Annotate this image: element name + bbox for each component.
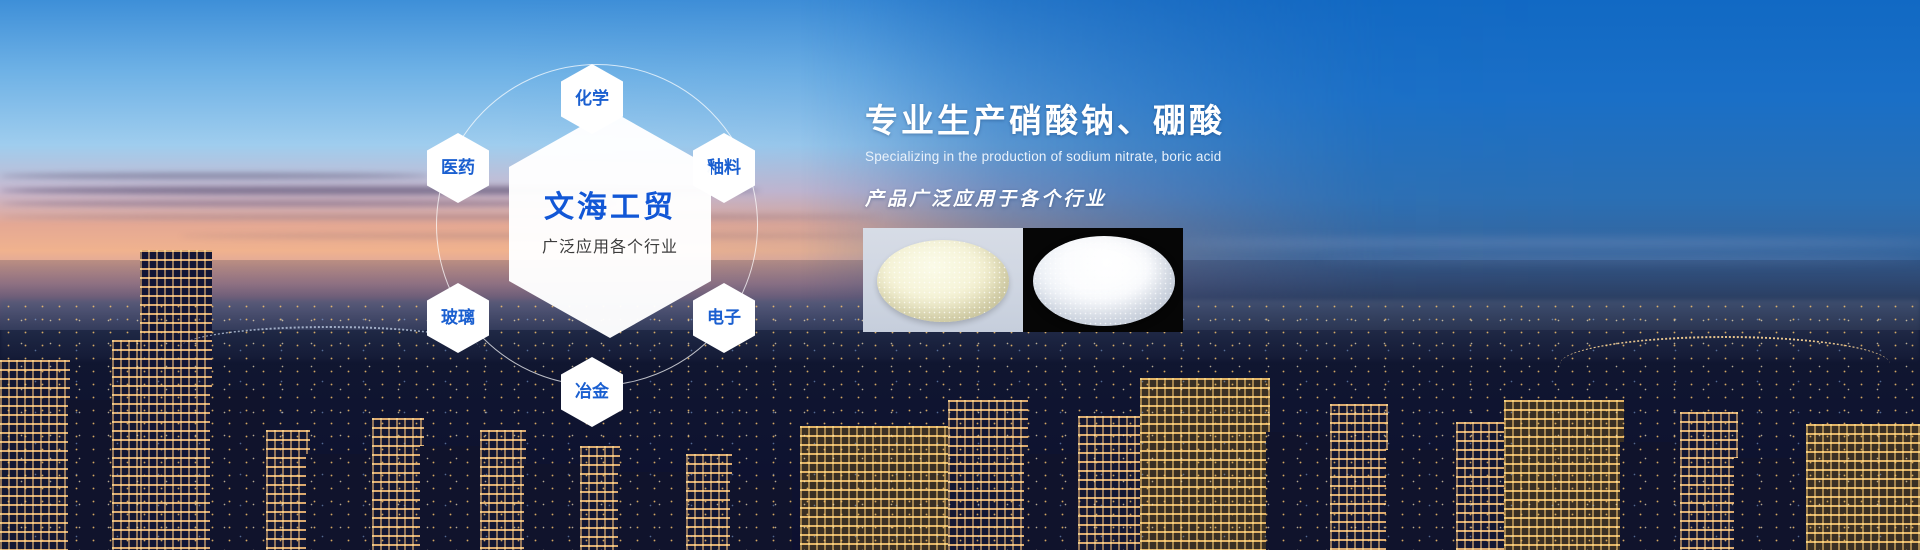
product-photo-boric-acid — [1023, 228, 1183, 332]
product-photo-sodium-nitrate — [863, 228, 1023, 332]
headline: 专业生产硝酸钠、硼酸 — [865, 100, 1505, 141]
industry-hex-diagram: 化学 釉料 电子 冶金 玻璃 医药 文海工贸 广泛应用各个行业 — [400, 20, 820, 480]
powder-pile — [1033, 236, 1175, 326]
copy-block: 专业生产硝酸钠、硼酸 Specializing in the productio… — [865, 100, 1505, 211]
powder-texture — [1033, 236, 1175, 326]
product-photos — [863, 228, 1223, 336]
english-subtitle: Specializing in the production of sodium… — [865, 149, 1505, 164]
hex-node-label: 医药 — [441, 159, 475, 177]
hex-node-label: 化学 — [575, 90, 609, 108]
powder-texture — [877, 240, 1009, 322]
banner-root: 化学 釉料 电子 冶金 玻璃 医药 文海工贸 广泛应用各个行业 专业生产硝酸钠、… — [0, 0, 1920, 550]
hex-node-label: 玻璃 — [441, 309, 475, 327]
powder-pile — [877, 240, 1009, 322]
tagline: 产品广泛应用于各个行业 — [865, 184, 1505, 211]
cloud-band — [0, 173, 430, 179]
brand-name: 文海工贸 — [544, 191, 676, 224]
cloud-band — [1180, 238, 1920, 248]
hex-node-label: 冶金 — [575, 383, 609, 401]
hex-node-label: 电子 — [707, 309, 741, 327]
brand-tagline: 广泛应用各个行业 — [542, 233, 678, 257]
hex-node-label: 釉料 — [707, 159, 741, 177]
